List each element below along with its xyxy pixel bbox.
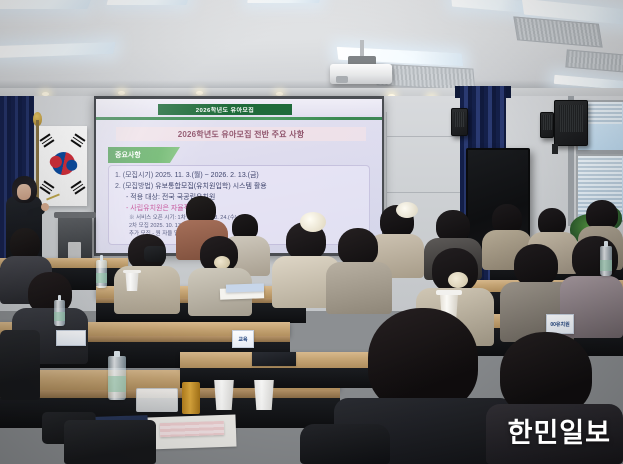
south-korean-flag — [39, 126, 87, 206]
slide-tab-label: 중요사항 — [115, 150, 141, 160]
bottle-label — [54, 312, 65, 321]
ceiling-light — [247, 0, 321, 3]
name-placard-text: 00유치원 — [550, 321, 569, 328]
slide-line-highlight: - 사립유치원은 자율적 시행 — [115, 203, 363, 214]
wall-speaker-right — [554, 100, 588, 146]
audience-head — [338, 228, 378, 266]
cup-lid — [436, 290, 462, 295]
hair-clip — [396, 202, 418, 218]
slide-title-text: 2026학년도 유아모집 전반 주요 사항 — [178, 129, 305, 140]
bottle-label — [600, 260, 612, 271]
water-bottle — [96, 260, 107, 288]
handbag — [144, 246, 166, 262]
water-bottle — [600, 246, 612, 276]
audience-head-foreground — [368, 308, 478, 412]
bottle-label — [96, 273, 107, 283]
table-skirt — [180, 368, 380, 388]
downlight — [196, 91, 203, 95]
slide-section-tab: 중요사항 — [108, 147, 180, 163]
presenter-hand — [41, 203, 49, 211]
trigram-gam — [71, 133, 86, 147]
downlight — [118, 91, 125, 95]
water-bottle — [54, 300, 65, 326]
wall-speaker-center — [540, 112, 554, 138]
watermark-logo: 한민일보 — [508, 411, 611, 450]
name-placard: 교육 — [232, 330, 254, 348]
audience-torso-foreground — [300, 424, 390, 464]
taeguk-symbol — [48, 148, 80, 180]
water-bottle — [108, 356, 126, 400]
audience-head — [514, 244, 558, 286]
wall-speaker-left — [451, 108, 468, 136]
trigram-ri — [40, 180, 55, 194]
juice-bottle — [182, 382, 200, 414]
name-placard-text: 교육 — [238, 336, 247, 343]
speaker-mount — [552, 144, 558, 154]
slide-title-box: 2026학년도 유아모집 전반 주요 사항 — [116, 127, 366, 141]
plastic-food-container — [136, 388, 178, 412]
handout-document-table — [160, 421, 224, 437]
podium-emblem — [68, 242, 81, 259]
ceiling-projector — [330, 64, 392, 84]
bottle-label — [108, 376, 126, 392]
conference-chair — [0, 330, 40, 400]
name-placard — [56, 330, 86, 346]
slide-ribbon-label: 2026학년도 유아모집 — [196, 105, 254, 114]
slide-line: 2. (모집방법) 유보통합모집(유치원입학) 시스템 활용 — [115, 181, 363, 192]
ceiling-light — [0, 0, 93, 9]
tablet-device — [252, 352, 296, 366]
presenter-face — [17, 184, 31, 200]
screenshot-photo: 2026학년도 유아모집 2026학년도 유아모집 전반 주요 사항 중요사항 … — [0, 0, 623, 464]
audience-torso — [326, 262, 392, 314]
name-placard: 00유치원 — [546, 314, 574, 334]
slide-divider-line — [96, 117, 382, 120]
conference-chair — [64, 420, 156, 464]
ceiling-light — [106, 0, 189, 5]
cup-lid — [123, 270, 141, 273]
hair-scrunchie — [300, 212, 326, 232]
handout-document — [226, 283, 264, 292]
slide-line: - 적용 대상: 전국 국공립유치원 — [115, 192, 363, 203]
audience-torso — [114, 266, 180, 314]
trigram-gon — [71, 180, 86, 194]
slide-ribbon-banner: 2026학년도 유아모집 — [158, 104, 292, 115]
slide-line: 1. (모집시기) 2025. 11. 3.(월) ~ 2026. 2. 13.… — [115, 170, 363, 181]
trigram-geon — [40, 133, 55, 147]
hair-clip — [448, 272, 468, 288]
